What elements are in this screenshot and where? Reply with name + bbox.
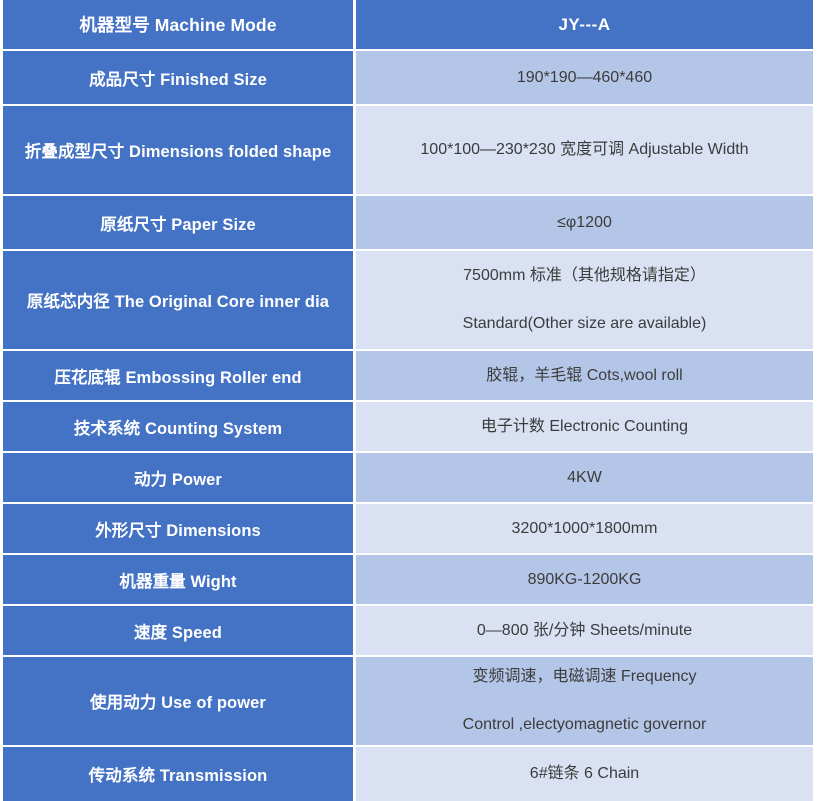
value-line: Standard(Other size are available): [463, 313, 707, 335]
spec-label-counting-system: 技术系统 Counting System: [3, 402, 353, 451]
value-line: 电子计数 Electronic Counting: [481, 416, 688, 438]
spec-value-machine-mode: JY---A: [356, 0, 813, 49]
machine-specification-table: 机器型号 Machine Mode JY---A 成品尺寸 Finished S…: [0, 0, 819, 783]
table-row: 压花底辊 Embossing Roller end 胶辊，羊毛辊 Cots,wo…: [3, 351, 813, 400]
value-line: 4KW: [567, 467, 602, 489]
value-line: Control ,electyomagnetic governor: [463, 714, 707, 736]
spec-label-original-core-inner-dia: 原纸芯内径 The Original Core inner dia: [3, 251, 353, 349]
spec-label-finished-size: 成品尺寸 Finished Size: [3, 51, 353, 104]
spec-label-dimensions-folded-shape: 折叠成型尺寸 Dimensions folded shape: [3, 106, 353, 194]
table-row: 成品尺寸 Finished Size 190*190—460*460: [3, 51, 813, 104]
value-line: 0—800 张/分钟 Sheets/minute: [477, 620, 692, 642]
spec-value-dimensions: 3200*1000*1800mm: [356, 504, 813, 553]
value-line: 7500mm 标准（其他规格请指定）: [463, 265, 706, 287]
spec-value-transmission: 6#链条 6 Chain: [356, 747, 813, 801]
table-row: 传动系统 Transmission 6#链条 6 Chain: [3, 747, 813, 801]
value-line: 890KG-1200KG: [528, 569, 642, 591]
value-line: 3200*1000*1800mm: [512, 518, 658, 540]
spec-value-dimensions-folded-shape: 100*100—230*230 宽度可调 Adjustable Width: [356, 106, 813, 194]
spec-label-machine-mode: 机器型号 Machine Mode: [3, 0, 353, 49]
spec-value-original-core-inner-dia: 7500mm 标准（其他规格请指定） Standard(Other size a…: [356, 251, 813, 349]
spec-label-dimensions: 外形尺寸 Dimensions: [3, 504, 353, 553]
table-row: 速度 Speed 0—800 张/分钟 Sheets/minute: [3, 606, 813, 655]
spec-value-use-of-power: 变频调速，电磁调速 Frequency Control ,electyomagn…: [356, 657, 813, 745]
value-line: ≤φ1200: [557, 212, 612, 234]
spec-value-embossing-roller-end: 胶辊，羊毛辊 Cots,wool roll: [356, 351, 813, 400]
spec-value-machine-weight: 890KG-1200KG: [356, 555, 813, 604]
value-line: 胶辊，羊毛辊 Cots,wool roll: [486, 365, 682, 387]
spec-value-speed: 0—800 张/分钟 Sheets/minute: [356, 606, 813, 655]
spec-label-transmission: 传动系统 Transmission: [3, 747, 353, 801]
value-line: 6#链条 6 Chain: [530, 763, 639, 785]
table-row: 动力 Power 4KW: [3, 453, 813, 502]
spec-value-power: 4KW: [356, 453, 813, 502]
table-row: 折叠成型尺寸 Dimensions folded shape 100*100—2…: [3, 106, 813, 194]
table-row: 机器重量 Wight 890KG-1200KG: [3, 555, 813, 604]
table-row: 原纸芯内径 The Original Core inner dia 7500mm…: [3, 251, 813, 349]
spec-label-embossing-roller-end: 压花底辊 Embossing Roller end: [3, 351, 353, 400]
spec-value-finished-size: 190*190—460*460: [356, 51, 813, 104]
spec-label-use-of-power: 使用动力 Use of power: [3, 657, 353, 745]
value-line: 190*190—460*460: [517, 67, 652, 89]
table-row: 原纸尺寸 Paper Size ≤φ1200: [3, 196, 813, 249]
spec-label-paper-size: 原纸尺寸 Paper Size: [3, 196, 353, 249]
value-line: 100*100—230*230 宽度可调 Adjustable Width: [420, 139, 748, 161]
table-row: 技术系统 Counting System 电子计数 Electronic Cou…: [3, 402, 813, 451]
spec-value-counting-system: 电子计数 Electronic Counting: [356, 402, 813, 451]
value-line: 变频调速，电磁调速 Frequency: [472, 666, 696, 688]
spec-label-speed: 速度 Speed: [3, 606, 353, 655]
spec-value-paper-size: ≤φ1200: [356, 196, 813, 249]
spec-label-machine-weight: 机器重量 Wight: [3, 555, 353, 604]
table-row: 使用动力 Use of power 变频调速，电磁调速 Frequency Co…: [3, 657, 813, 745]
table-row-header: 机器型号 Machine Mode JY---A: [3, 0, 813, 49]
spec-label-power: 动力 Power: [3, 453, 353, 502]
table-row: 外形尺寸 Dimensions 3200*1000*1800mm: [3, 504, 813, 553]
